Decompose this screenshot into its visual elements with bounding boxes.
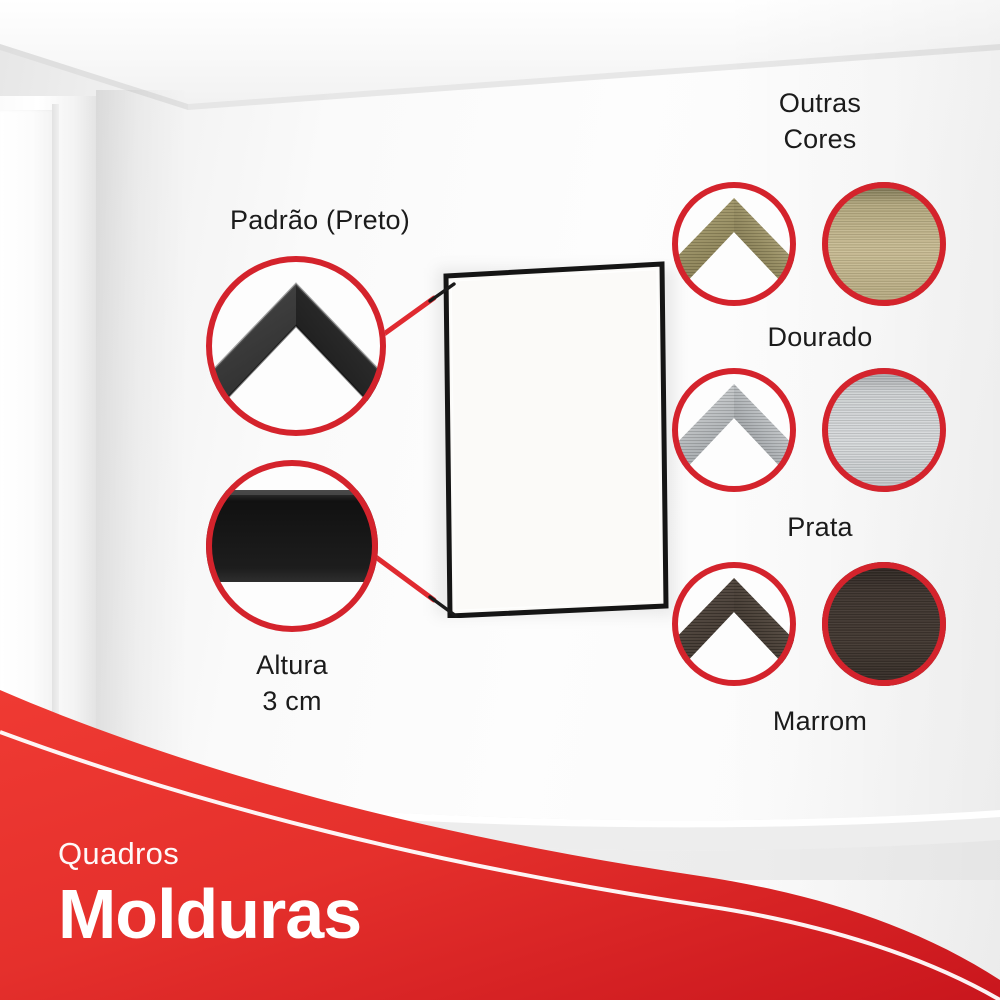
callout-padrao-preto (206, 256, 386, 436)
brown-corner-graphic (672, 562, 796, 686)
frame-height-swatch (206, 460, 378, 632)
label-outras-cores-line2: Cores (700, 124, 940, 156)
swatch-dourado-flat (822, 182, 946, 306)
swatch-dourado-flat-clip (822, 182, 946, 306)
leader-tip-top (430, 284, 454, 301)
label-altura-line1: Altura (172, 650, 412, 682)
swatch-prata-flat-clip (822, 368, 946, 492)
swatch-prata-corner (672, 368, 796, 492)
swatch-prata-corner-clip (672, 368, 796, 492)
infographic-canvas: Padrão (Preto) (0, 0, 1000, 1000)
callout-padrao-clip (206, 256, 386, 436)
label-outras-cores-line1: Outras (700, 88, 940, 120)
brown-flat-graphic (822, 562, 946, 686)
callout-altura (206, 460, 378, 632)
gold-flat-graphic (822, 182, 946, 306)
brand-name-main: Molduras (58, 874, 361, 954)
swatch-dourado-corner (672, 182, 796, 306)
brand-banner: Quadros Molduras (0, 680, 1000, 1000)
swatch-marrom-corner (672, 562, 796, 686)
callout-altura-clip (206, 460, 378, 632)
leader-tip-bottom (430, 597, 456, 616)
black-corner-swatch (206, 256, 386, 436)
swatch-marrom-flat (822, 562, 946, 686)
swatch-marrom-corner-clip (672, 562, 796, 686)
swatch-prata-flat (822, 368, 946, 492)
silver-corner-graphic (672, 368, 796, 492)
swatch-dourado-corner-clip (672, 182, 796, 306)
brand-name-top: Quadros (58, 836, 179, 872)
gold-corner-graphic (672, 182, 796, 306)
swatch-marrom-flat-clip (822, 562, 946, 686)
label-prata: Prata (690, 512, 950, 544)
label-dourado: Dourado (690, 322, 950, 354)
label-padrao-preto: Padrão (Preto) (190, 205, 450, 237)
silver-flat-graphic (822, 368, 946, 492)
